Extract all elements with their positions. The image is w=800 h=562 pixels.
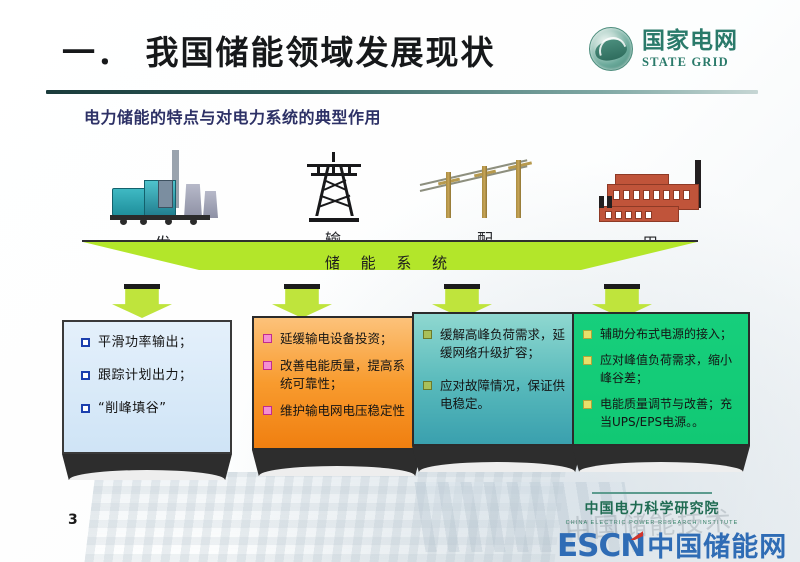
list-item-text: 延缓输电设备投资； xyxy=(280,330,393,348)
escn-mark-cn: 中国储能网 xyxy=(647,525,787,562)
transmission-tower-icon xyxy=(258,152,408,224)
list-item: 跟踪计划出力； xyxy=(73,367,221,386)
page-number: 3 xyxy=(68,512,78,528)
bullet-square-icon xyxy=(263,334,272,343)
power-plant-icon xyxy=(88,156,238,228)
box-shadow-base xyxy=(412,446,582,472)
list-item-text: 电能质量调节与改善；充当UPS/EPS电源。。 xyxy=(600,396,739,431)
bullet-square-icon xyxy=(423,330,432,339)
list-item: 平滑功率输出； xyxy=(73,334,221,353)
list-item: 缓解高峰负荷需求，延缓网络升级扩容； xyxy=(423,326,571,362)
page-title: 一． 我国储能领域发展现状 xyxy=(62,26,496,74)
list-item-text: 应对峰值负荷需求，缩小峰谷差； xyxy=(600,352,739,387)
list-item: 维护输电网电压稳定性 xyxy=(263,402,411,420)
title-divider xyxy=(46,90,758,94)
bullet-square-icon xyxy=(583,356,592,365)
distribution-pole-icon xyxy=(410,152,560,224)
logo-label-en: STATE GRID xyxy=(642,56,738,69)
box-shadow-base xyxy=(572,446,750,472)
box-shadow-base xyxy=(252,450,422,476)
bullet-square-icon xyxy=(583,400,592,409)
bullet-square-icon xyxy=(81,404,90,413)
benefit-box-consumption: 辅助分布式电源的接入； 应对峰值负荷需求，缩小峰谷差； 电能质量调节与改善；充当… xyxy=(572,312,750,472)
list-item-text: 平滑功率输出； xyxy=(98,334,193,353)
bullet-square-icon xyxy=(583,330,592,339)
list-item: 辅助分布式电源的接入； xyxy=(583,326,739,343)
benefit-box-generation: 平滑功率输出； 跟踪计划出力； “削峰填谷” xyxy=(62,320,232,480)
page-subtitle: 电力储能的特点与对电力系统的典型作用 xyxy=(84,104,381,128)
factory-building-icon xyxy=(575,156,725,228)
stage-transmission: 输 xyxy=(258,152,408,250)
storage-system-band: 储 能 系 统 xyxy=(82,240,698,270)
background-photo-watermark xyxy=(84,472,565,562)
down-arrow-icon xyxy=(112,284,172,318)
list-item-text: 辅助分布式电源的接入； xyxy=(600,326,732,343)
list-item-text: “削峰填谷” xyxy=(98,400,166,419)
list-item: 延缓输电设备投资； xyxy=(263,330,411,348)
cepri-divider xyxy=(592,492,712,494)
down-arrow-icon xyxy=(272,284,332,318)
state-grid-logo: 国家电网 STATE GRID xyxy=(589,27,738,71)
list-item: 电能质量调节与改善；充当UPS/EPS电源。。 xyxy=(583,396,739,431)
slide-canvas: 一． 我国储能领域发展现状 国家电网 STATE GRID 电力储能的特点与对电… xyxy=(0,0,800,562)
bullet-square-icon xyxy=(81,338,90,347)
list-item: 改善电能质量，提高系统可靠性； xyxy=(263,357,411,393)
list-item: “削峰填谷” xyxy=(73,400,221,419)
bullet-square-icon xyxy=(81,371,90,380)
stage-distribution: 配 xyxy=(410,152,560,250)
bullet-square-icon xyxy=(423,381,432,390)
box-shadow-base xyxy=(62,454,232,480)
logo-label-cn: 国家电网 xyxy=(642,30,738,53)
list-item-text: 维护输电网电压稳定性 xyxy=(280,402,405,420)
list-item-text: 跟踪计划出力； xyxy=(98,367,193,386)
list-item-text: 改善电能质量，提高系统可靠性； xyxy=(280,357,411,393)
state-grid-emblem-icon xyxy=(589,27,633,71)
list-item-text: 缓解高峰负荷需求，延缓网络升级扩容； xyxy=(440,326,571,362)
bullet-square-icon xyxy=(263,406,272,415)
storage-band-label: 储 能 系 统 xyxy=(82,252,698,273)
benefit-box-distribution: 缓解高峰负荷需求，延缓网络升级扩容； 应对故障情况，保证供电稳定。 xyxy=(412,312,582,472)
storage-band-topline xyxy=(82,240,698,242)
escn-watermark: ESCN 中国储能网 xyxy=(557,525,787,562)
list-item: 应对故障情况，保证供电稳定。 xyxy=(423,377,571,413)
list-item: 应对峰值负荷需求，缩小峰谷差； xyxy=(583,352,739,387)
escn-mark: ESCN xyxy=(557,528,645,562)
benefit-box-transmission: 延缓输电设备投资； 改善电能质量，提高系统可靠性； 维护输电网电压稳定性 xyxy=(252,316,422,476)
list-item-text: 应对故障情况，保证供电稳定。 xyxy=(440,377,571,413)
bullet-square-icon xyxy=(263,361,272,370)
